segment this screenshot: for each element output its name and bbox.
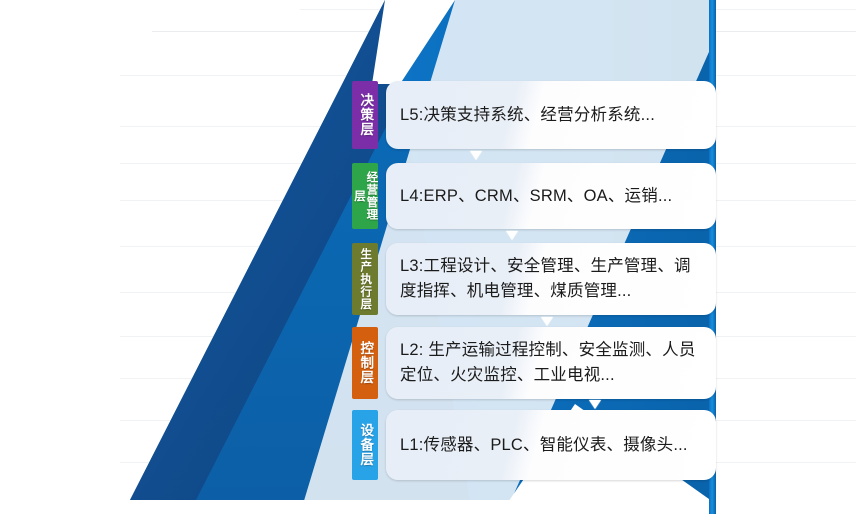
layer-card-text-l3: L3:工程设计、安全管理、生产管理、调度指挥、机电管理、煤质管理...: [400, 254, 704, 304]
layer-card-l5[interactable]: L5:决策支持系统、经营分析系统...: [386, 81, 716, 149]
layer-tab-l5[interactable]: 决策层: [352, 81, 378, 149]
layer-row-l5: 决策层L5:决策支持系统、经营分析系统...: [352, 81, 716, 149]
layer-row-l3: 生产执行层L3:工程设计、安全管理、生产管理、调度指挥、机电管理、煤质管理...: [352, 243, 716, 315]
layer-tab-l1[interactable]: 设备层: [352, 410, 378, 480]
layer-row-l4: 经营管理层L4:ERP、CRM、SRM、OA、运销...: [352, 163, 716, 229]
diagram-canvas: 决策层L5:决策支持系统、经营分析系统...经营管理层L4:ERP、CRM、SR…: [0, 0, 856, 514]
layer-card-text-l5: L5:决策支持系统、经营分析系统...: [400, 103, 655, 128]
layer-card-l4[interactable]: L4:ERP、CRM、SRM、OA、运销...: [386, 163, 716, 229]
layer-row-l2: 控制层L2: 生产运输过程控制、安全监测、人员定位、火灾监控、工业电视...: [352, 327, 716, 399]
layer-tab-l3[interactable]: 生产执行层: [352, 243, 378, 315]
connector-arrow-icon: [589, 400, 601, 409]
layer-row-l1: 设备层L1:传感器、PLC、智能仪表、摄像头...: [352, 410, 716, 480]
connector-arrow-icon: [506, 231, 518, 240]
layer-card-text-l1: L1:传感器、PLC、智能仪表、摄像头...: [400, 433, 688, 458]
layer-card-l3[interactable]: L3:工程设计、安全管理、生产管理、调度指挥、机电管理、煤质管理...: [386, 243, 716, 315]
connector-arrow-icon: [541, 317, 553, 326]
layer-card-l1[interactable]: L1:传感器、PLC、智能仪表、摄像头...: [386, 410, 716, 480]
layer-card-l2[interactable]: L2: 生产运输过程控制、安全监测、人员定位、火灾监控、工业电视...: [386, 327, 716, 399]
connector-arrow-icon: [470, 151, 482, 160]
layer-tab-l4[interactable]: 经营管理层: [352, 163, 378, 229]
layer-tab-l2[interactable]: 控制层: [352, 327, 378, 399]
layer-card-text-l2: L2: 生产运输过程控制、安全监测、人员定位、火灾监控、工业电视...: [400, 338, 704, 388]
layer-rows: 决策层L5:决策支持系统、经营分析系统...经营管理层L4:ERP、CRM、SR…: [0, 0, 856, 514]
layer-card-text-l4: L4:ERP、CRM、SRM、OA、运销...: [400, 184, 672, 209]
